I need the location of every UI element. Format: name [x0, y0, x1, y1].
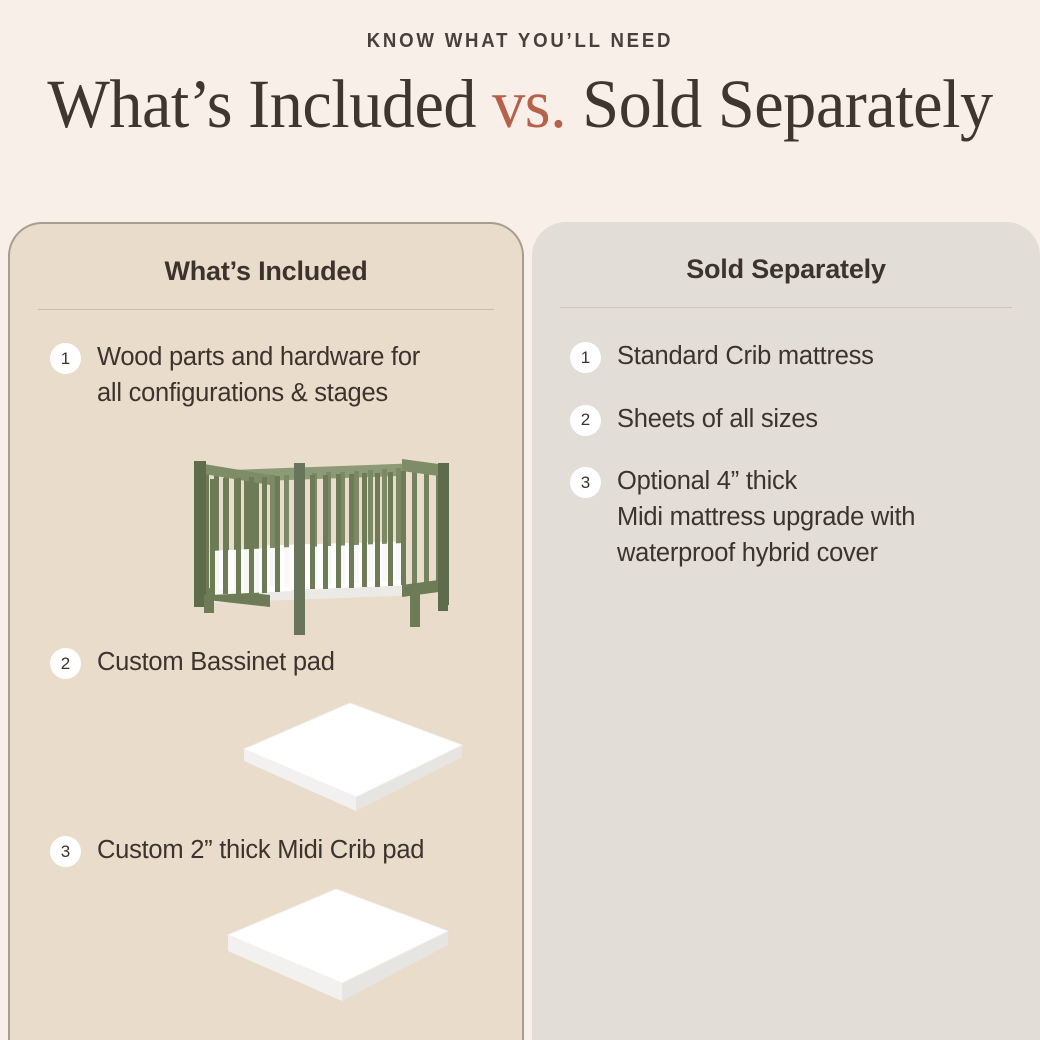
list-item: 2 Custom Bassinet pad — [50, 645, 522, 681]
eyebrow-text: KNOW WHAT YOU’LL NEED — [36, 30, 1003, 53]
item-label: Wood parts and hardware for all configur… — [97, 340, 420, 411]
included-card: What’s Included 1 Wood parts and hardwar… — [8, 222, 524, 1040]
item-label: Standard Crib mattress — [617, 339, 874, 375]
list-item: 3 Custom 2” thick Midi Crib pad — [50, 833, 522, 869]
midi-crib-pad-icon — [222, 881, 452, 1011]
list-item: 3 Optional 4” thick Midi mattress upgrad… — [570, 464, 1040, 571]
item-label: Optional 4” thick Midi mattress upgrade … — [617, 464, 915, 571]
item-number-badge: 3 — [570, 467, 601, 498]
sold-separately-card: Sold Separately 1 Standard Crib mattress… — [532, 222, 1040, 1040]
included-card-body: 1 Wood parts and hardware for all config… — [10, 310, 522, 1021]
item-label: Custom Bassinet pad — [97, 645, 335, 681]
sold-separately-card-body: 1 Standard Crib mattress 2 Sheets of all… — [532, 308, 1040, 571]
headline-part-1: What’s Included — [47, 66, 492, 142]
item-number-badge: 2 — [50, 648, 81, 679]
midi-crib-pad-image-block — [50, 881, 522, 1021]
page-title: What’s Included vs. Sold Separately — [21, 69, 1019, 139]
included-card-title: What’s Included — [10, 224, 522, 287]
item-label: Custom 2” thick Midi Crib pad — [97, 833, 424, 869]
list-item: 1 Wood parts and hardware for all config… — [50, 340, 522, 411]
midi-crib-pad-svg — [222, 881, 452, 1011]
sold-separately-card-title: Sold Separately — [532, 222, 1040, 285]
bassinet-pad-icon — [238, 693, 468, 823]
item-number-badge: 3 — [50, 836, 81, 867]
crib-image-block — [50, 435, 522, 645]
item-number-badge: 1 — [50, 343, 81, 374]
comparison-cards: What’s Included 1 Wood parts and hardwar… — [0, 222, 1040, 1040]
page-header: KNOW WHAT YOU’LL NEED What’s Included vs… — [0, 0, 1040, 212]
headline-part-2: Sold Separately — [566, 66, 992, 142]
green-crib-svg — [174, 435, 452, 635]
green-crib-icon — [174, 435, 452, 635]
headline-vs: vs. — [492, 66, 566, 142]
list-item: 2 Sheets of all sizes — [570, 402, 1040, 438]
list-item: 1 Standard Crib mattress — [570, 339, 1040, 375]
item-number-badge: 2 — [570, 405, 601, 436]
bassinet-pad-svg — [238, 693, 468, 823]
bassinet-pad-image-block — [50, 693, 522, 833]
item-number-badge: 1 — [570, 342, 601, 373]
item-label: Sheets of all sizes — [617, 402, 818, 438]
